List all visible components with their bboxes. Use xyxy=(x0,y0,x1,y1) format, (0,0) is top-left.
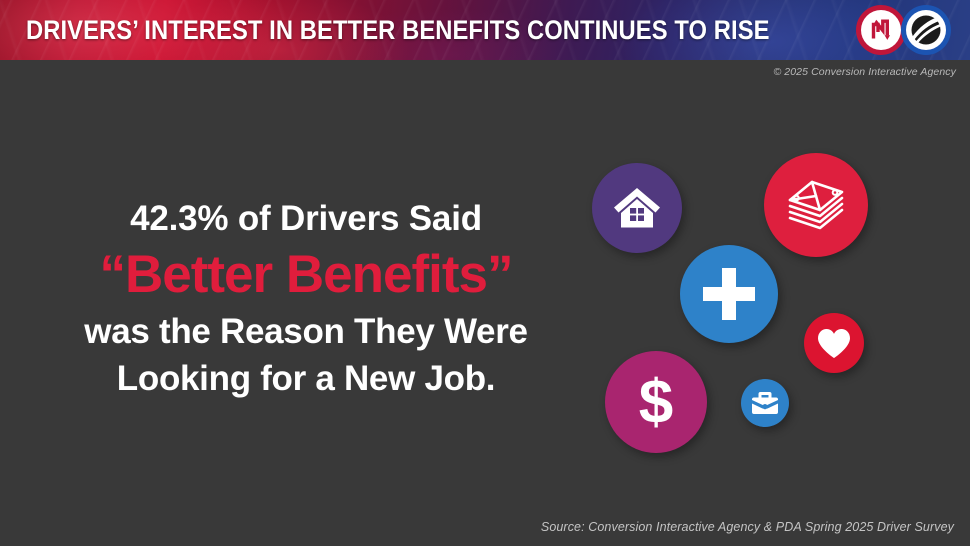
money-stack-icon xyxy=(785,178,847,232)
money-stack-icon-bubble xyxy=(764,153,868,257)
briefcase-icon xyxy=(751,391,779,415)
logo-inner-disc xyxy=(906,10,946,50)
pda-logo[interactable] xyxy=(901,5,951,55)
house-icon-bubble xyxy=(592,163,682,253)
swoosh-ellipse-icon xyxy=(910,14,942,46)
infographic-slide: DRIVERS’ INTEREST IN BETTER BENEFITS CON… xyxy=(0,0,970,546)
n-arrow-icon xyxy=(868,17,894,43)
header-banner: DRIVERS’ INTEREST IN BETTER BENEFITS CON… xyxy=(0,0,970,60)
logo-group xyxy=(856,5,958,55)
dollar-sign-icon-bubble: $ xyxy=(605,351,707,453)
headline-line-reason: was the Reason They Were xyxy=(30,308,582,355)
conversion-interactive-agency-logo[interactable] xyxy=(856,5,906,55)
dollar-sign-icon: $ xyxy=(636,370,676,434)
source-citation: Source: Conversion Interactive Agency & … xyxy=(541,520,954,534)
headline-block: 42.3% of Drivers Said “Better Benefits” … xyxy=(30,196,582,402)
headline-line-quote: “Better Benefits” xyxy=(30,242,582,308)
briefcase-icon-bubble xyxy=(741,379,789,427)
headline-line-stat: 42.3% of Drivers Said xyxy=(30,196,582,242)
medical-cross-icon xyxy=(701,266,757,322)
headline-line-newjob: Looking for a New Job. xyxy=(30,355,582,402)
banner-title: DRIVERS’ INTEREST IN BETTER BENEFITS CON… xyxy=(26,0,770,60)
logo-inner-disc xyxy=(861,10,901,50)
heart-icon xyxy=(817,328,851,359)
benefit-icon-cluster: $ xyxy=(580,140,960,470)
house-icon xyxy=(612,186,662,230)
medical-cross-icon-bubble xyxy=(680,245,778,343)
heart-icon-bubble xyxy=(804,313,864,373)
svg-text:$: $ xyxy=(639,370,673,434)
copyright-notice: © 2025 Conversion Interactive Agency xyxy=(773,66,956,78)
